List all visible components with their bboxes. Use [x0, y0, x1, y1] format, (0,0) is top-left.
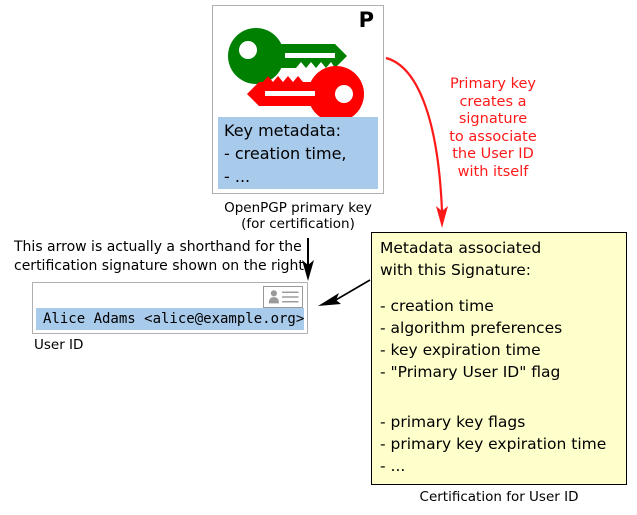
primary-key-caption-line: (for certification): [212, 216, 384, 232]
shorthand-annotation-line: This arrow is actually a shorthand for t…: [14, 238, 304, 257]
certification-item: - ...: [380, 455, 626, 477]
certification-item: - primary key flags: [380, 411, 626, 433]
shorthand-annotation-text: This arrow is actually a shorthand for t…: [14, 238, 304, 276]
key-metadata-line: - creation time,: [224, 142, 372, 165]
shorthand-annotation-line: certification signature shown on the rig…: [14, 257, 304, 276]
certification-box: Metadata associated with this Signature:…: [371, 232, 627, 485]
red-annotation-line: to associate: [429, 129, 557, 147]
red-annotation-line: Primary key: [429, 76, 557, 94]
certification-heading-line: with this Signature:: [380, 259, 626, 281]
user-id-box: Alice Adams <alice@example.org>: [32, 282, 308, 334]
key-metadata-line: Key metadata:: [224, 119, 372, 142]
red-annotation-line: creates a: [429, 94, 557, 112]
user-id-value: Alice Adams <alice@example.org>: [36, 308, 304, 330]
certification-item: - creation time: [380, 295, 626, 317]
red-annotation-line: signature: [429, 111, 557, 129]
primary-key-caption-line: OpenPGP primary key: [212, 200, 384, 216]
user-id-caption: User ID: [34, 337, 83, 353]
key-pair-graphic: [223, 26, 375, 126]
certification-spacer: [380, 383, 626, 397]
certification-item: - "Primary User ID" flag: [380, 361, 626, 383]
certification-heading-line: Metadata associated: [380, 237, 626, 259]
diagram-canvas: P Key metadata: - creation time, - ...: [0, 0, 637, 515]
primary-key-box: P Key metadata: - creation time, - ...: [212, 5, 384, 194]
id-card-icon: [263, 286, 303, 308]
certification-item: - algorithm preferences: [380, 317, 626, 339]
red-annotation-line: the User ID: [429, 146, 557, 164]
certification-caption: Certification for User ID: [371, 489, 627, 505]
certification-to-user-id-arrow: [318, 280, 370, 306]
certification-item: - key expiration time: [380, 339, 626, 361]
key-metadata-line: - ...: [224, 165, 372, 188]
certification-item: - primary key expiration time: [380, 433, 626, 455]
certification-spacer: [380, 281, 626, 295]
primary-key-caption: OpenPGP primary key (for certification): [212, 200, 384, 232]
certification-spacer: [380, 397, 626, 411]
key-metadata-panel: Key metadata: - creation time, - ...: [218, 117, 378, 189]
red-annotation-line: with itself: [429, 164, 557, 182]
red-annotation-text: Primary key creates a signature to assoc…: [429, 76, 557, 181]
